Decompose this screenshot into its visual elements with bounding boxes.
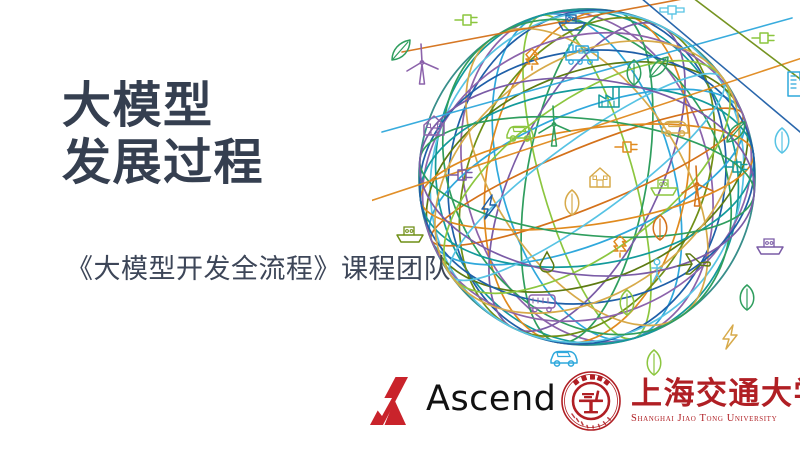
subtitle: 《大模型开发全流程》课程团队 bbox=[66, 252, 451, 286]
title-line-1: 大模型 bbox=[62, 78, 392, 135]
slide-canvas: 大模型 发展过程 《大模型开发全流程》课程团队 Ascend bbox=[0, 0, 800, 449]
page-title: 大模型 发展过程 bbox=[62, 78, 392, 192]
ascend-a-mark bbox=[362, 374, 416, 428]
sjtu-name-cn: 上海交通大学 bbox=[631, 377, 800, 411]
title-line-2: 发展过程 bbox=[62, 135, 392, 192]
logo-row: Ascend bbox=[362, 370, 792, 442]
sjtu-logo: 上海交通大学 Shanghai Jiao Tong University bbox=[560, 370, 800, 432]
sjtu-seal-emblem bbox=[560, 370, 622, 432]
ascend-logo: Ascend bbox=[362, 374, 556, 428]
sjtu-name-en: Shanghai Jiao Tong University bbox=[631, 412, 777, 426]
smart-world-globe-illustration bbox=[372, 0, 800, 392]
sjtu-text-block: 上海交通大学 Shanghai Jiao Tong University bbox=[631, 377, 800, 426]
ascend-wordmark: Ascend bbox=[426, 382, 556, 420]
